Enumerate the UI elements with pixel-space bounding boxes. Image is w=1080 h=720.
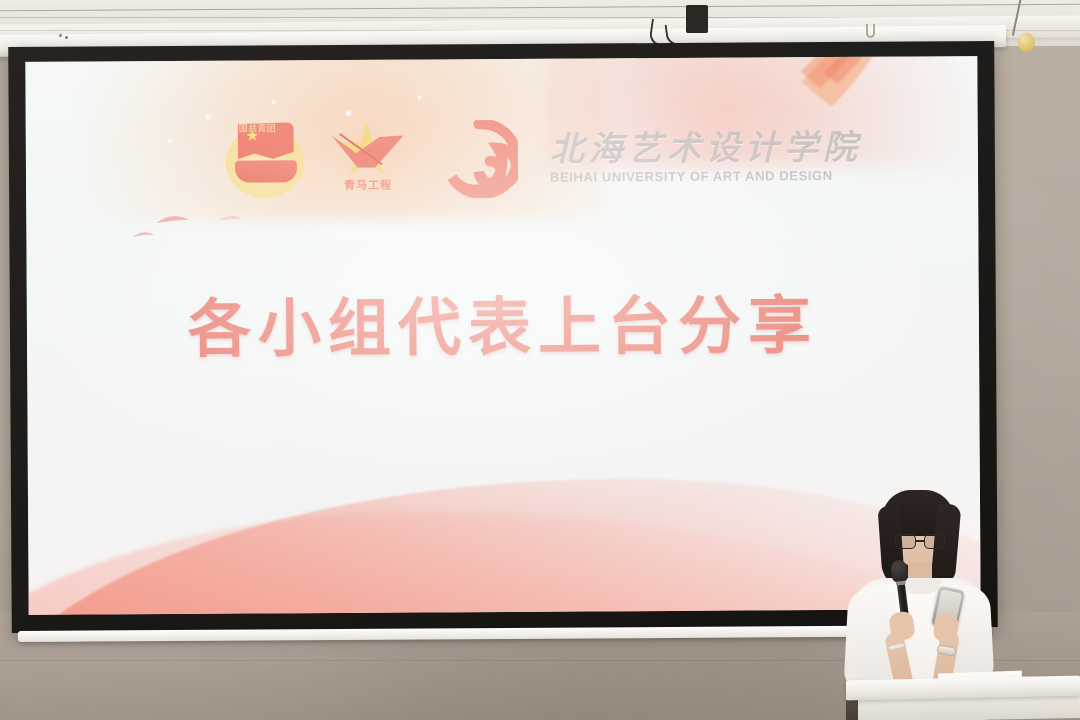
qingma-project-logo: 青马工程 bbox=[326, 121, 410, 200]
lectern bbox=[846, 672, 1080, 720]
glasses-icon bbox=[895, 534, 945, 549]
qingma-project-label: 青马工程 bbox=[326, 177, 410, 194]
slide-logo-row: ★ 中国共青团 青马工程 北海艺术设计学院 bbox=[222, 115, 863, 203]
spiral-swirl-icon bbox=[440, 120, 518, 198]
sparkle-dot bbox=[418, 95, 422, 99]
sparkle-dot bbox=[168, 139, 172, 143]
sparkle-dot bbox=[206, 115, 211, 120]
ceiling-mount-bracket-icon bbox=[686, 5, 708, 33]
ceiling-mark bbox=[65, 36, 68, 39]
sparkle-dot bbox=[272, 100, 276, 104]
sparkle-dot bbox=[346, 110, 352, 116]
ceiling-mark bbox=[59, 34, 62, 37]
screen-pull-cord-ball[interactable] bbox=[1018, 33, 1035, 52]
communist-youth-league-flag-icon: ★ 中国共青团 bbox=[222, 118, 309, 203]
flying-birds-icon bbox=[126, 200, 266, 261]
classroom-scene: ★ 中国共青团 青马工程 北海艺术设计学院 bbox=[0, 0, 1080, 720]
ceiling-hook-icon bbox=[866, 24, 875, 38]
university-name-block: 北海艺术设计学院 BEIHAI UNIVERSITY OF ART AND DE… bbox=[550, 130, 862, 185]
university-name-cn: 北海艺术设计学院 bbox=[550, 130, 862, 168]
cyl-ribbon-label: 中国共青团 bbox=[222, 121, 284, 134]
slide-title: 各小组代表上台分享 bbox=[27, 274, 980, 371]
university-name-en: BEIHAI UNIVERSITY OF ART AND DESIGN bbox=[550, 168, 862, 185]
